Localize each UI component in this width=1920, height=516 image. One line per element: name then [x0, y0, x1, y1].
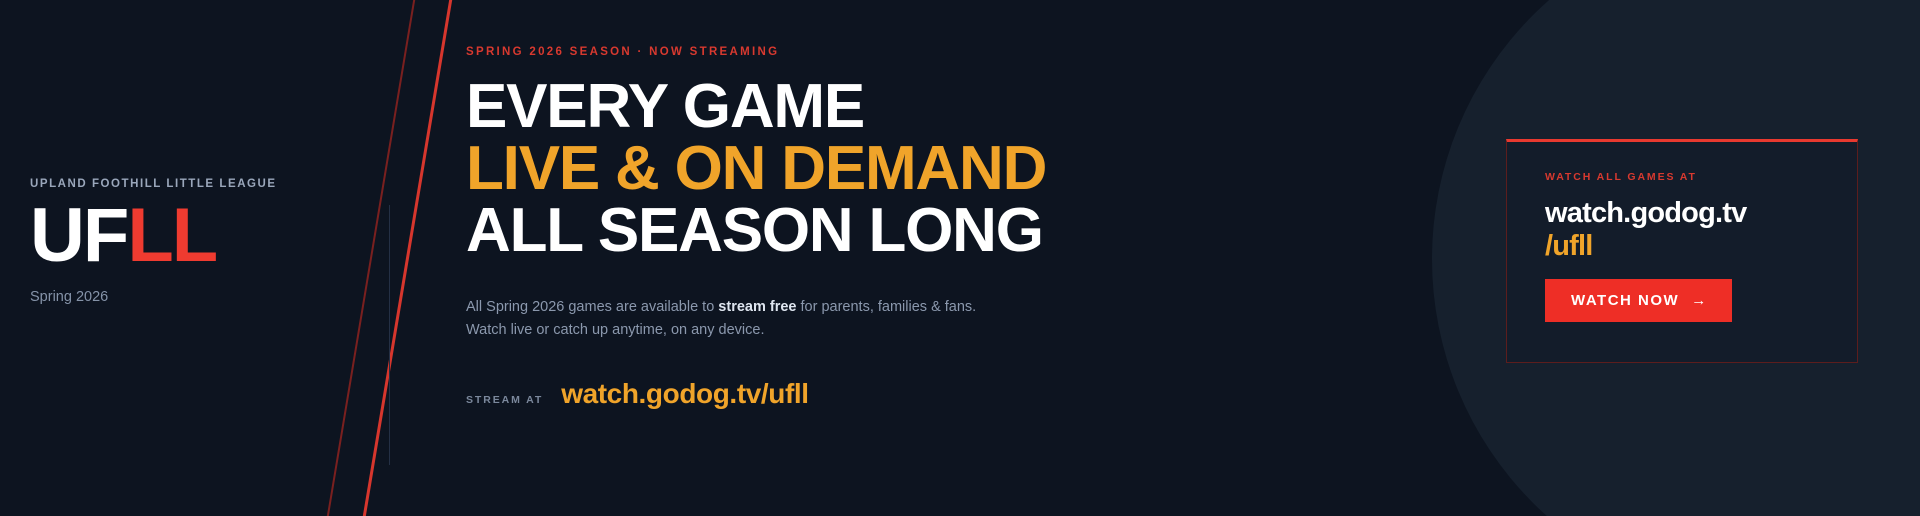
- watch-now-button[interactable]: WATCH NOW →: [1545, 279, 1732, 322]
- watch-now-button-label: WATCH NOW: [1571, 292, 1679, 309]
- hero-body-emphasis: stream free: [718, 299, 796, 315]
- vertical-divider: [389, 205, 390, 465]
- diagonal-stripe-primary-decoration: [336, 0, 474, 516]
- league-name-label: UPLAND FOOTHILL LITTLE LEAGUE: [30, 178, 330, 190]
- stream-url-link[interactable]: watch.godog.tv/ufll: [561, 378, 809, 410]
- brand-lockup: UPLAND FOOTHILL LITTLE LEAGUE UFLL Sprin…: [30, 178, 330, 305]
- brand-wordmark-accent: LL: [127, 193, 216, 278]
- cta-url-path: /ufll: [1545, 230, 1819, 263]
- stream-at-label: STREAM AT: [466, 394, 543, 406]
- watch-cta-card: WATCH ALL GAMES AT watch.godog.tv/ufll W…: [1506, 139, 1858, 363]
- cta-url: watch.godog.tv/ufll: [1545, 197, 1819, 263]
- brand-wordmark: UFLL: [30, 200, 330, 273]
- stream-at-row: STREAM AT watch.godog.tv/ufll: [466, 378, 1276, 410]
- hero-body-text: All Spring 2026 games are available to s…: [466, 296, 986, 342]
- streaming-promo-banner: UPLAND FOOTHILL LITTLE LEAGUE UFLL Sprin…: [0, 0, 1920, 516]
- cta-url-host: watch.godog.tv: [1545, 197, 1746, 229]
- brand-wordmark-primary: UF: [30, 193, 127, 278]
- cta-kicker-label: WATCH ALL GAMES AT: [1545, 171, 1819, 183]
- hero-title-line-2: LIVE & ON DEMAND: [466, 138, 1276, 200]
- hero-title-line-3: ALL SEASON LONG: [466, 200, 1276, 262]
- brand-season-label: Spring 2026: [30, 289, 330, 305]
- hero-body-tail: for parents, families & fans.: [796, 299, 976, 315]
- hero-body-lead: All Spring 2026 games are available to: [466, 299, 718, 315]
- hero-title-line-1: EVERY GAME: [466, 76, 1276, 138]
- hero-eyebrow: SPRING 2026 SEASON · NOW STREAMING: [466, 46, 1276, 58]
- hero-body-line-2: Watch live or catch up anytime, on any d…: [466, 322, 764, 338]
- page-title: EVERY GAME LIVE & ON DEMAND ALL SEASON L…: [466, 76, 1276, 262]
- arrow-right-icon: →: [1691, 293, 1706, 308]
- hero-content: SPRING 2026 SEASON · NOW STREAMING EVERY…: [466, 46, 1276, 410]
